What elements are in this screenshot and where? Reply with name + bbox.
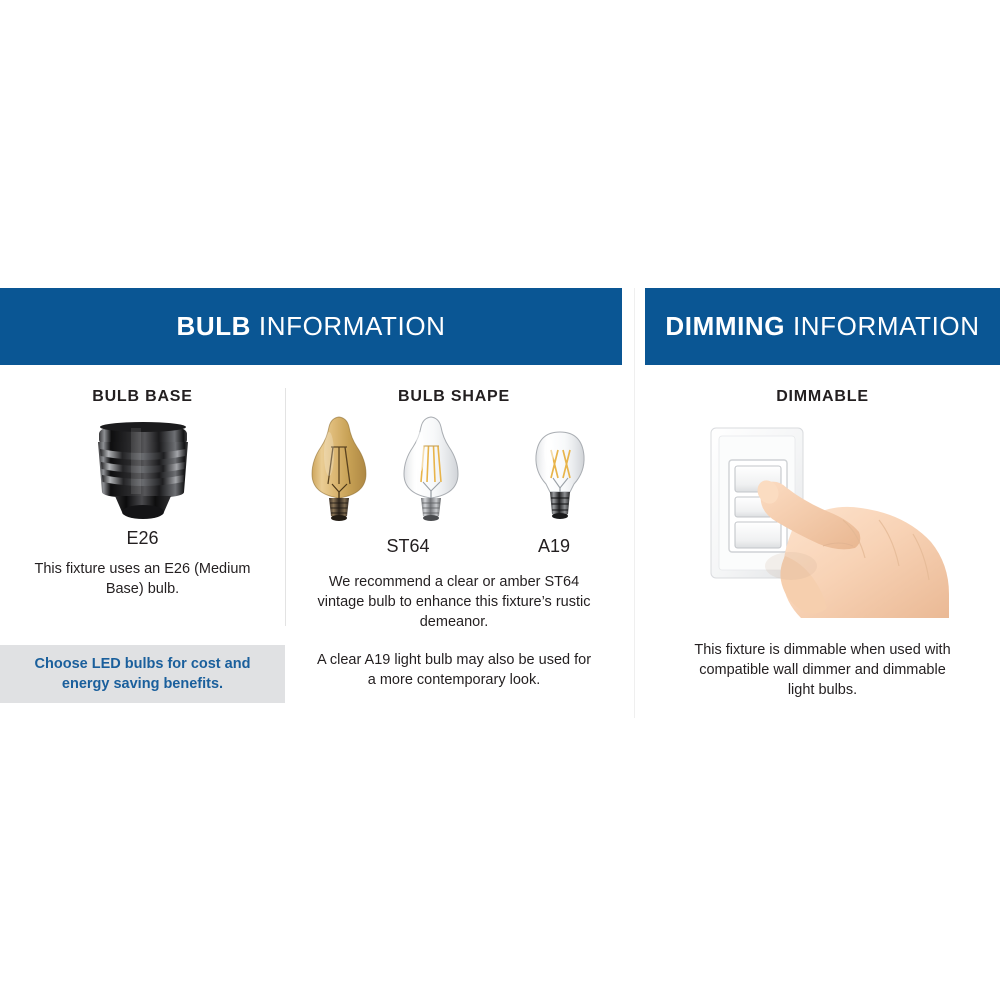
bulb-information-banner: BULB INFORMATION <box>0 288 622 365</box>
bulb-shape-image-row <box>286 412 622 532</box>
bulb-base-column: BULB BASE <box>0 388 285 599</box>
bulb-shape-description-1: We recommend a clear or amber ST64 vinta… <box>313 572 595 632</box>
bulb-base-heading: BULB BASE <box>0 388 285 406</box>
dimming-information-title-rest: INFORMATION <box>785 311 979 341</box>
dimming-information-title-strong: DIMMING <box>665 311 785 341</box>
panel-divider <box>634 288 635 718</box>
clear-a19-bulb-image <box>505 428 615 532</box>
dimmable-description: This fixture is dimmable when used with … <box>687 640 959 700</box>
bulb-base-description: This fixture uses an E26 (Medium Base) b… <box>15 559 270 599</box>
bulb-shape-labels: ST64 A19 <box>286 536 622 562</box>
bulb-information-title-rest: INFORMATION <box>251 311 445 341</box>
amber-st64-bulb-image <box>293 414 385 532</box>
bulb-shape-description-2: A clear A19 light bulb may also be used … <box>313 650 595 690</box>
bulb-shape-column: BULB SHAPE <box>286 388 622 690</box>
bulb-shape-label-a19: A19 <box>514 536 594 557</box>
hand-pressing-wall-dimmer-image <box>645 412 1000 630</box>
dimmable-heading: DIMMABLE <box>645 388 1000 406</box>
dimmable-column: DIMMABLE <box>645 388 1000 700</box>
bulb-shape-heading: BULB SHAPE <box>286 388 622 406</box>
led-tip-text: Choose LED bulbs for cost and energy sav… <box>23 654 263 694</box>
e26-socket-base-image <box>0 412 285 522</box>
led-tip-box: Choose LED bulbs for cost and energy sav… <box>0 645 285 703</box>
dimming-information-title: DIMMING INFORMATION <box>665 311 979 342</box>
dimming-information-banner: DIMMING INFORMATION <box>645 288 1000 365</box>
bulb-base-label: E26 <box>0 528 285 549</box>
bulb-information-title: BULB INFORMATION <box>176 311 445 342</box>
bulb-shape-label-st64: ST64 <box>368 536 448 557</box>
clear-st64-bulb-image <box>385 414 477 532</box>
bulb-information-title-strong: BULB <box>176 311 251 341</box>
